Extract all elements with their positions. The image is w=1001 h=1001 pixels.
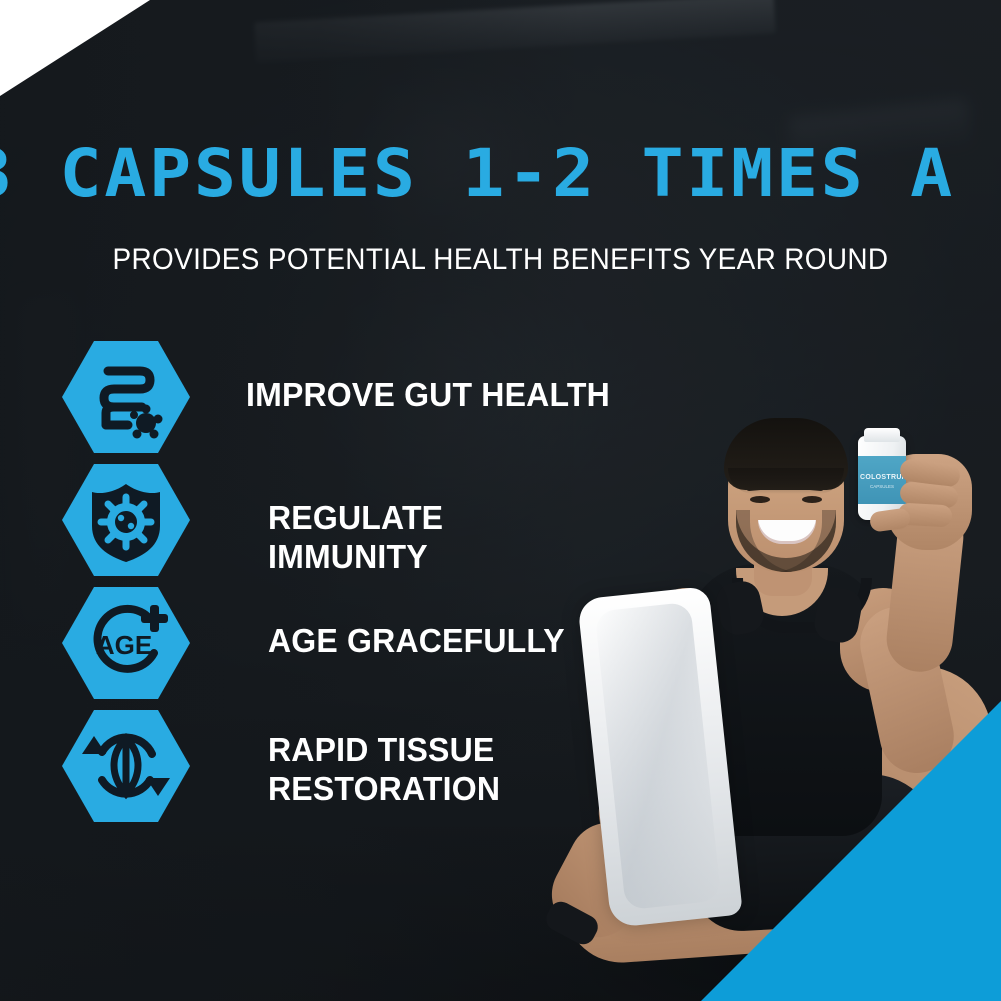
benefit-item-tissue-restoration: RAPID TISSUE RESTORATION xyxy=(62,710,622,833)
model-left-eye xyxy=(750,496,770,503)
product-marketing-image: COLOSTRUM CAPSULES 3 CAPSULES 1-2 TIMES … xyxy=(0,0,1001,1001)
headline: 3 CAPSULES 1-2 TIMES A DAY xyxy=(0,141,1001,207)
benefit-item-age: AGE AGE GRACEFULLY xyxy=(62,587,622,710)
benefit-icon-badge xyxy=(62,341,190,453)
product-bottle-label-subtitle: CAPSULES xyxy=(860,484,904,490)
benefit-label: RAPID TISSUE RESTORATION xyxy=(268,710,500,808)
age-plus-circle-icon: AGE xyxy=(62,587,190,699)
benefit-label: REGULATE IMMUNITY xyxy=(268,464,611,576)
model-hair-fade xyxy=(728,468,844,494)
svg-text:AGE: AGE xyxy=(96,630,152,660)
benefit-label: AGE GRACEFULLY xyxy=(268,587,565,660)
benefit-label: IMPROVE GUT HEALTH xyxy=(246,341,610,414)
benefit-item-immunity: REGULATE IMMUNITY xyxy=(62,464,622,587)
benefit-item-gut-health: IMPROVE GUT HEALTH xyxy=(62,341,622,464)
intestine-bacteria-icon xyxy=(62,341,190,453)
product-bottle-cap xyxy=(864,428,900,442)
benefits-list: IMPROVE GUT HEALTH xyxy=(62,341,622,833)
benefit-icon-badge xyxy=(62,710,190,822)
benefit-icon-badge xyxy=(62,464,190,576)
subheadline: PROVIDES POTENTIAL HEALTH BENEFITS YEAR … xyxy=(35,243,966,277)
cell-regeneration-icon xyxy=(62,710,190,822)
shield-virus-icon xyxy=(62,464,190,576)
model-right-eye xyxy=(802,496,822,503)
product-bottle-label-title: COLOSTRUM xyxy=(860,474,904,482)
benefit-icon-badge: AGE xyxy=(62,587,190,699)
